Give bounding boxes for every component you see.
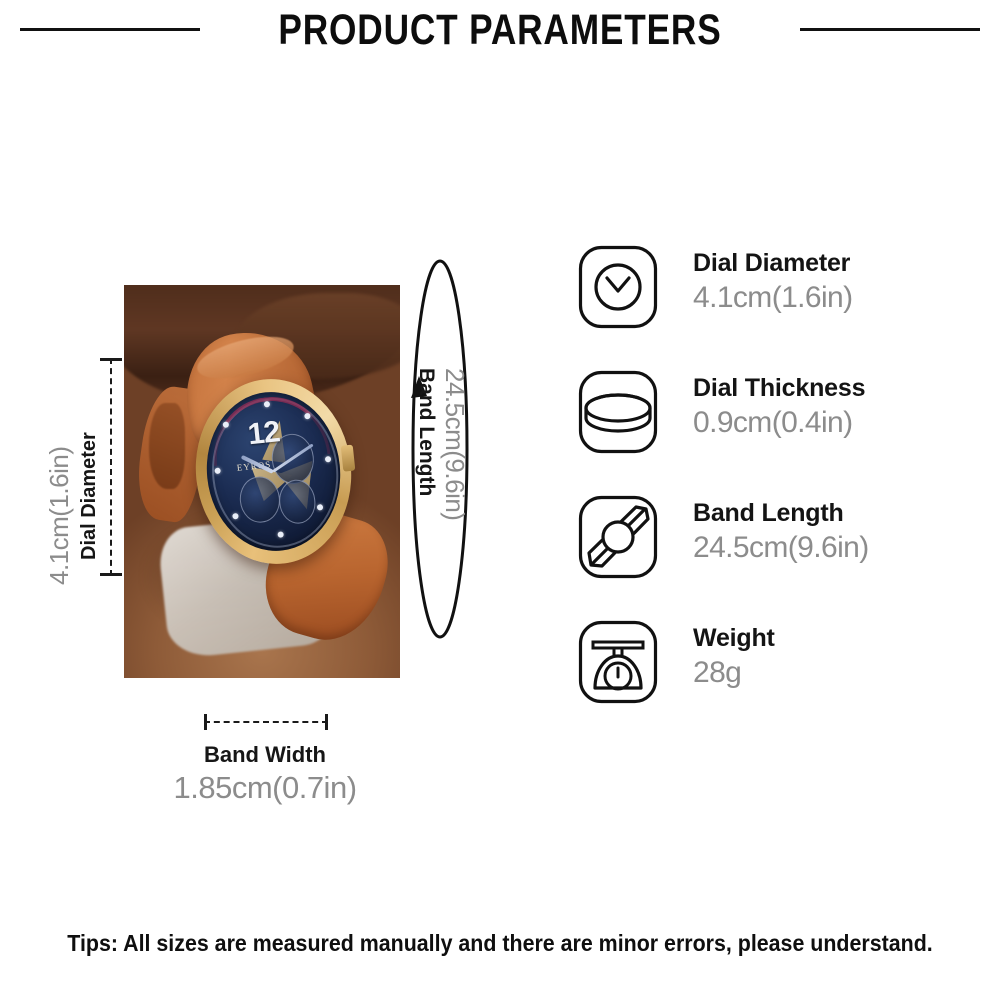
dimension-end-cap (100, 358, 122, 361)
spec-text-band-length: Band Length 24.5cm(9.6in) (693, 497, 869, 567)
watch-product-photo: 12 EYROS (124, 285, 400, 678)
cylinder-thickness-icon (578, 370, 658, 454)
spec-row-dial-thickness: Dial Thickness 0.9cm(0.4in) (578, 370, 978, 495)
spec-text-weight: Weight 28g (693, 622, 775, 692)
spec-label: Dial Diameter (693, 247, 853, 279)
dimension-end-cap (100, 573, 122, 576)
spec-label: Band Length (693, 497, 869, 529)
spec-row-weight: Weight 28g (578, 620, 978, 745)
watch-strap-left-shadow (149, 403, 185, 489)
dial-diameter-label: Dial Diameter (78, 380, 101, 560)
spec-text-dial-thickness: Dial Thickness 0.9cm(0.4in) (693, 372, 865, 442)
spec-list: Dial Diameter 4.1cm(1.6in) Dial Thicknes… (578, 245, 978, 745)
dimension-end-cap (325, 714, 328, 730)
band-length-value: 24.5cm(9.6in) (439, 368, 470, 520)
band-length-label: Band Length (414, 368, 438, 520)
spec-value: 4.1cm(1.6in) (693, 279, 853, 317)
watch-band-icon (578, 495, 658, 579)
spec-value: 24.5cm(9.6in) (693, 529, 869, 567)
watch-crown (340, 445, 355, 472)
spec-value: 28g (693, 654, 775, 692)
spec-row-band-length: Band Length 24.5cm(9.6in) (578, 495, 978, 620)
spec-row-dial-diameter: Dial Diameter 4.1cm(1.6in) (578, 245, 978, 370)
band-width-value: 1.85cm(0.7in) (120, 770, 410, 806)
header: PRODUCT PARAMETERS (0, 0, 1000, 62)
spec-label: Dial Thickness (693, 372, 865, 404)
watch-dial: 12 EYROS (199, 386, 348, 558)
spec-label: Weight (693, 622, 775, 654)
spec-text-dial-diameter: Dial Diameter 4.1cm(1.6in) (693, 247, 853, 317)
infographic-page: PRODUCT PARAMETERS 12 EYROS (0, 0, 1000, 1000)
dimension-end-cap (204, 714, 207, 730)
dial-diameter-value: 4.1cm(1.6in) (44, 370, 75, 585)
tips-note: Tips: All sizes are measured manually an… (35, 930, 965, 957)
spec-value: 0.9cm(0.4in) (693, 404, 865, 442)
kitchen-scale-icon (578, 620, 658, 704)
dial-numeral-12: 12 (246, 415, 281, 452)
watch-dial-icon (578, 245, 658, 329)
band-length-annotation: 24.5cm(9.6in) Band Length (414, 368, 470, 520)
dimension-dashed-line (204, 721, 328, 723)
dial-marker (214, 468, 221, 475)
band-width-label: Band Width (130, 742, 400, 768)
dimension-dashed-line (110, 358, 112, 576)
page-title: PRODUCT PARAMETERS (90, 2, 910, 58)
